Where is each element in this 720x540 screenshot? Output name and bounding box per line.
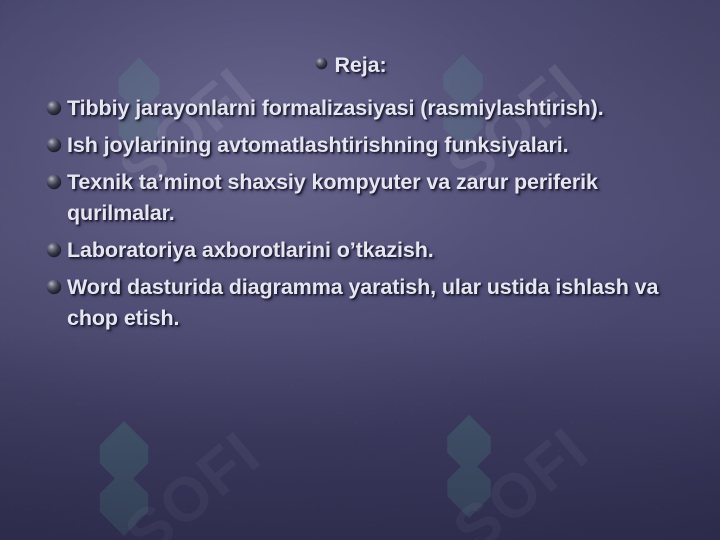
sphere-bullet-icon (46, 137, 62, 153)
sphere-bullet-icon (46, 174, 62, 190)
slide-title-row: Reja: (0, 50, 720, 81)
bullet-item: Texnik ta’minot shaxsiy kompyuter va zar… (0, 167, 720, 229)
bullet-item-text: Word dasturida diagramma yaratish, ular … (67, 272, 702, 334)
bullet-item: Laboratoriya axborotlarini o’tkazish. (0, 235, 720, 266)
presentation-slide: SOFI SOFI SOFI SOFI (0, 0, 720, 540)
slide-title: Reja: (334, 50, 386, 81)
sphere-bullet-icon (315, 57, 328, 70)
bullet-item: Ish joylarining avtomatlashtirishning fu… (0, 130, 720, 161)
sphere-bullet-icon (46, 100, 62, 116)
bullet-list: Reja: (0, 0, 720, 334)
bullet-item-text: Texnik ta’minot shaxsiy kompyuter va zar… (67, 167, 702, 229)
bullet-item-text: Laboratoriya axborotlarini o’tkazish. (67, 235, 434, 266)
bullet-item-text: Tibbiy jarayonlarni formalizasiyasi (ras… (67, 93, 604, 124)
bullet-item: Word dasturida diagramma yaratish, ular … (0, 272, 720, 334)
bullet-item: Tibbiy jarayonlarni formalizasiyasi (ras… (0, 93, 720, 124)
sphere-bullet-icon (46, 242, 62, 258)
bullet-item-text: Ish joylarining avtomatlashtirishning fu… (67, 130, 568, 161)
slide-content: Reja: (0, 0, 720, 540)
sphere-bullet-icon (46, 279, 62, 295)
